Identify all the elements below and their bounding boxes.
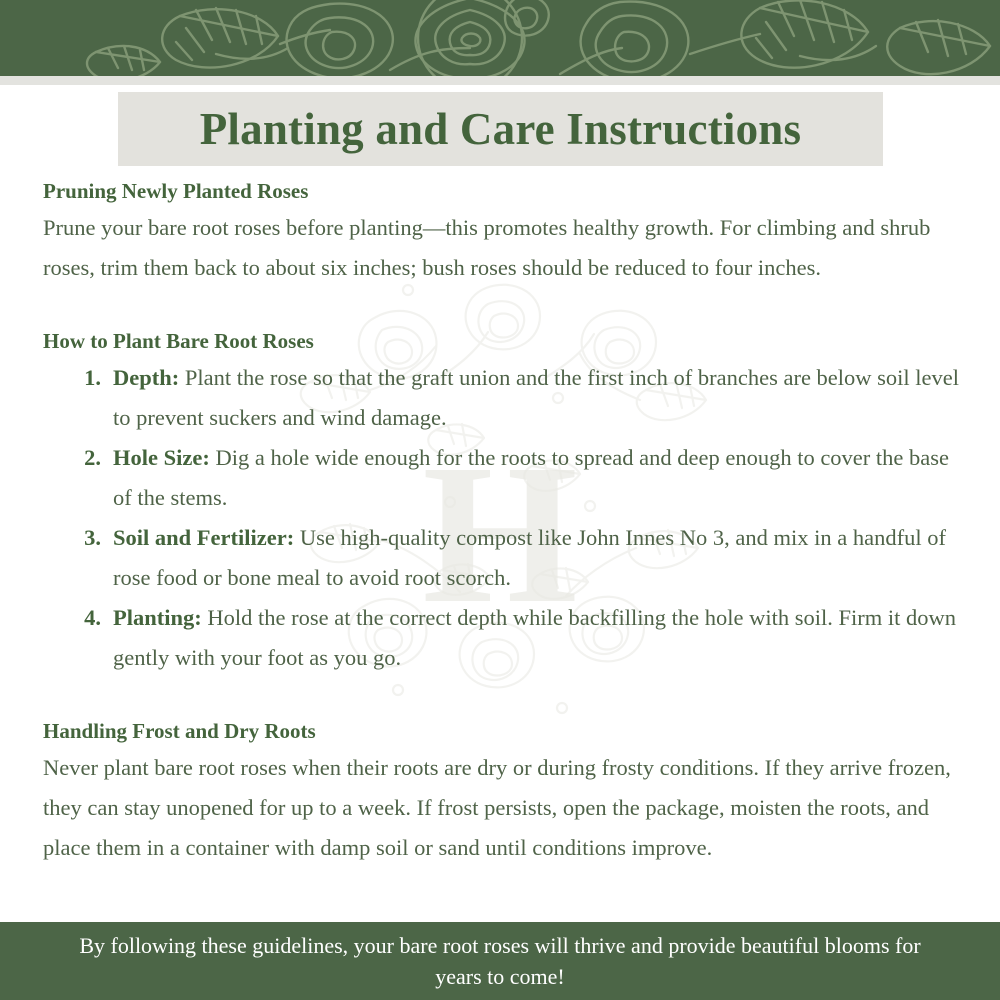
section-heading-pruning: Pruning Newly Planted Roses (43, 178, 963, 204)
list-item: 4.Planting: Hold the rose at the correct… (43, 598, 963, 678)
step-label: Depth: (113, 365, 179, 390)
section-spacer (43, 288, 963, 328)
step-label: Planting: (113, 605, 202, 630)
step-number: 4. (77, 598, 101, 638)
step-number: 2. (77, 438, 101, 478)
step-text: Dig a hole wide enough for the roots to … (113, 445, 949, 510)
section-spacer (43, 678, 963, 718)
instructions-content: Pruning Newly Planted Roses Prune your b… (43, 178, 963, 868)
steps-list: 1.Depth: Plant the rose so that the graf… (43, 358, 963, 678)
list-item: 2.Hole Size: Dig a hole wide enough for … (43, 438, 963, 518)
step-label: Hole Size: (113, 445, 210, 470)
list-item: 1.Depth: Plant the rose so that the graf… (43, 358, 963, 438)
section-how-to-plant: How to Plant Bare Root Roses 1.Depth: Pl… (43, 328, 963, 678)
header-banner (0, 0, 1000, 76)
section-paragraph-frost-dry-roots: Never plant bare root roses when their r… (43, 748, 963, 868)
section-paragraph-pruning: Prune your bare root roses before planti… (43, 208, 963, 288)
step-number: 3. (77, 518, 101, 558)
step-text: Hold the rose at the correct depth while… (113, 605, 956, 670)
rose-line-art-header-icon (0, 0, 1000, 76)
section-pruning: Pruning Newly Planted Roses Prune your b… (43, 178, 963, 288)
step-label: Soil and Fertilizer: (113, 525, 294, 550)
list-item: 3.Soil and Fertilizer: Use high-quality … (43, 518, 963, 598)
step-number: 1. (77, 358, 101, 398)
header-separator-strip (0, 76, 1000, 85)
section-heading-frost-dry-roots: Handling Frost and Dry Roots (43, 718, 963, 744)
footer-text: By following these guidelines, your bare… (60, 930, 940, 992)
step-text: Plant the rose so that the graft union a… (113, 365, 959, 430)
instruction-page: Planting and Care Instructions H (0, 0, 1000, 1000)
section-heading-how-to-plant: How to Plant Bare Root Roses (43, 328, 963, 354)
footer-banner: By following these guidelines, your bare… (0, 922, 1000, 1000)
page-title: Planting and Care Instructions (200, 107, 802, 152)
title-banner-box: Planting and Care Instructions (118, 92, 883, 166)
section-frost-dry-roots: Handling Frost and Dry Roots Never plant… (43, 718, 963, 868)
